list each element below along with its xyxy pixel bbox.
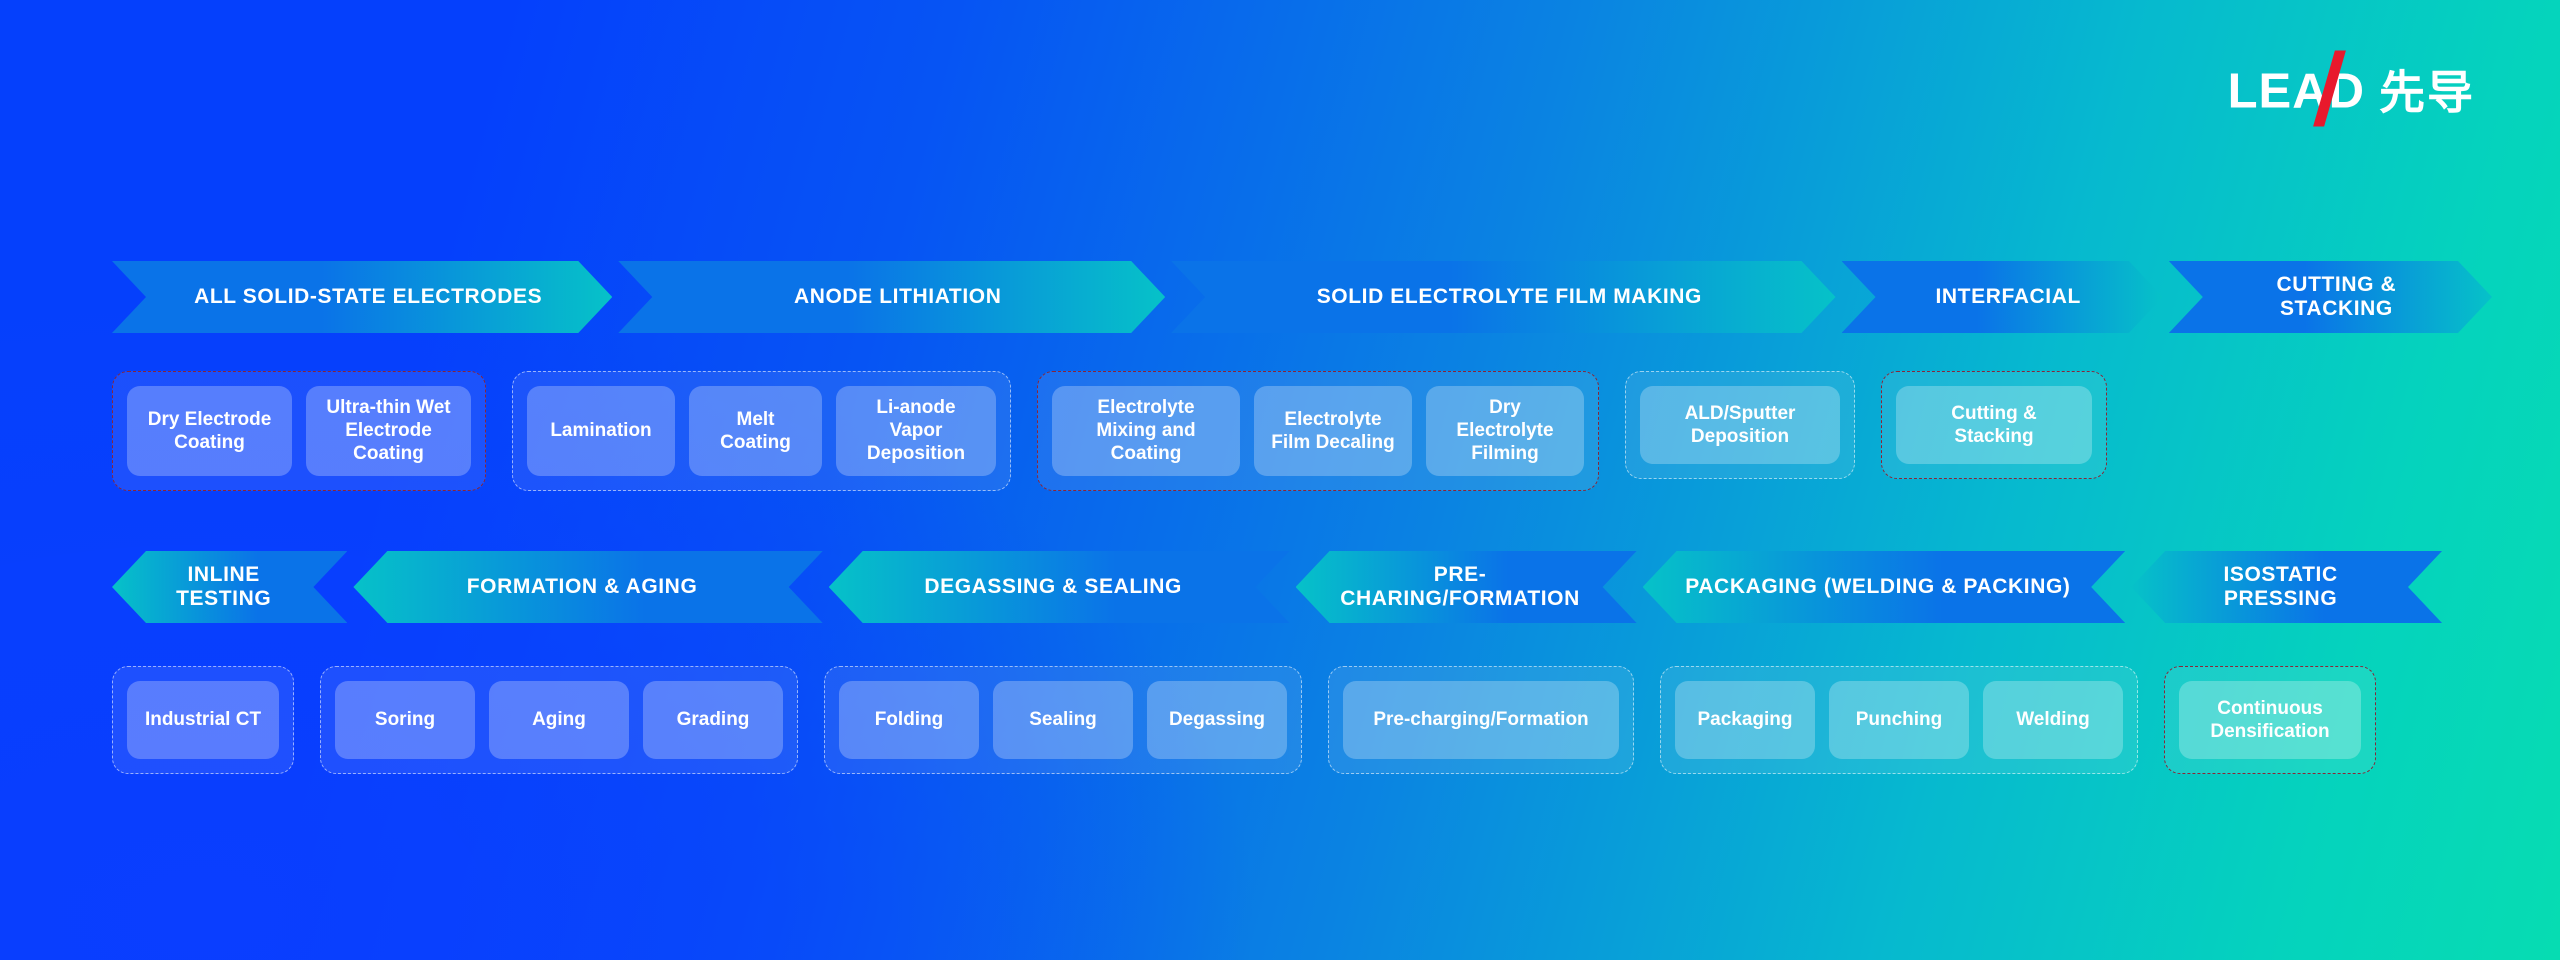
process-card-punching[interactable]: Punching [1829, 681, 1969, 759]
logo-wordmark: LEAD [2228, 68, 2365, 117]
process-card-dry-electrode-coating[interactable]: Dry Electrode Coating [127, 386, 292, 476]
stage-banner-isostatic-pressing[interactable]: ISOSTATIC PRESSING [2131, 551, 2442, 623]
stage-banner-formation-aging[interactable]: FORMATION & AGING [353, 551, 822, 623]
stage-banner-label: ALL SOLID-STATE ELECTRODES [194, 285, 542, 309]
card-group-cutting-stacking: Cutting & Stacking [1881, 371, 2107, 479]
card-group-isostatic-pressing: Continuous Densification [2164, 666, 2376, 774]
logo-mark: LEAD [2228, 68, 2365, 117]
process-card-lamination[interactable]: Lamination [527, 386, 675, 476]
stage-banner-degassing-sealing[interactable]: DEGASSING & SEALING [829, 551, 1290, 623]
card-group-all-solid-state-electrodes: Dry Electrode CoatingUltra-thin Wet Elec… [112, 371, 486, 491]
process-card-li-anode-vapor-deposition[interactable]: Li-anode Vapor Deposition [836, 386, 996, 476]
process-card-welding[interactable]: Welding [1983, 681, 2123, 759]
stage-banner-pre-charing-formation[interactable]: PRE-CHARING/FORMATION [1296, 551, 1637, 623]
card-group-formation-aging: SoringAgingGrading [320, 666, 798, 774]
process-card-aging[interactable]: Aging [489, 681, 629, 759]
stage-card-row-2: Industrial CTSoringAgingGradingFoldingSe… [0, 666, 2560, 774]
stage-banner-cutting-stacking[interactable]: CUTTING & STACKING [2169, 261, 2492, 333]
process-card-degassing[interactable]: Degassing [1147, 681, 1287, 759]
process-card-melt-coating[interactable]: Melt Coating [689, 386, 822, 476]
card-group-degassing-sealing: FoldingSealingDegassing [824, 666, 1302, 774]
process-card-electrolyte-mixing-and-coating[interactable]: Electrolyte Mixing and Coating [1052, 386, 1240, 476]
process-card-dry-electrolyte-filming[interactable]: Dry Electrolyte Filming [1426, 386, 1584, 476]
stage-banner-label: DEGASSING & SEALING [924, 575, 1182, 599]
card-group-pre-charing-formation: Pre-charging/Formation [1328, 666, 1634, 774]
stage-banner-label: FORMATION & AGING [467, 575, 698, 599]
stage-banner-anode-lithiation[interactable]: ANODE LITHIATION [618, 261, 1165, 333]
process-card-sealing[interactable]: Sealing [993, 681, 1133, 759]
process-flow-diagram: LEAD 先导 ALL SOLID-STATE ELECTRODESANODE … [0, 0, 2560, 960]
stage-banner-row-1: ALL SOLID-STATE ELECTRODESANODE LITHIATI… [0, 261, 2560, 333]
process-card-electrolyte-film-decaling[interactable]: Electrolyte Film Decaling [1254, 386, 1412, 476]
stage-card-row-1: Dry Electrode CoatingUltra-thin Wet Elec… [0, 371, 2560, 491]
stage-banner-label: ISOSTATIC PRESSING [2223, 563, 2337, 610]
stage-banner-label: PACKAGING (WELDING & PACKING) [1685, 575, 2070, 599]
process-card-industrial-ct[interactable]: Industrial CT [127, 681, 279, 759]
card-group-inline-testing: Industrial CT [112, 666, 294, 774]
card-group-packaging-welding-packing: PackagingPunchingWelding [1660, 666, 2138, 774]
stage-banner-inline-testing[interactable]: INLINE TESTING [112, 551, 347, 623]
process-card-pre-charging-formation[interactable]: Pre-charging/Formation [1343, 681, 1619, 759]
process-card-cutting-stacking[interactable]: Cutting & Stacking [1896, 386, 2092, 464]
stage-banner-label: INTERFACIAL [1935, 285, 2080, 309]
process-card-ultra-thin-wet-electrode-coating[interactable]: Ultra-thin Wet Electrode Coating [306, 386, 471, 476]
lead-logo: LEAD 先导 [2228, 68, 2475, 117]
process-card-soring[interactable]: Soring [335, 681, 475, 759]
stage-banner-label: INLINE TESTING [152, 563, 295, 610]
stage-banner-row-2: INLINE TESTINGFORMATION & AGINGDEGASSING… [0, 551, 2560, 623]
process-card-folding[interactable]: Folding [839, 681, 979, 759]
stage-banner-packaging-welding-packing[interactable]: PACKAGING (WELDING & PACKING) [1643, 551, 2126, 623]
card-group-solid-electrolyte-film-making: Electrolyte Mixing and CoatingElectrolyt… [1037, 371, 1599, 491]
stage-banner-label: SOLID ELECTROLYTE FILM MAKING [1317, 285, 1702, 309]
process-card-continuous-densification[interactable]: Continuous Densification [2179, 681, 2361, 759]
process-card-grading[interactable]: Grading [643, 681, 783, 759]
card-group-interfacial: ALD/Sputter Deposition [1625, 371, 1855, 479]
process-card-packaging[interactable]: Packaging [1675, 681, 1815, 759]
stage-banner-solid-electrolyte-film-making[interactable]: SOLID ELECTROLYTE FILM MAKING [1171, 261, 1835, 333]
stage-banner-interfacial[interactable]: INTERFACIAL [1842, 261, 2163, 333]
logo-chinese-name: 先导 [2379, 69, 2475, 115]
stage-banner-label: CUTTING & STACKING [2221, 273, 2452, 320]
stage-banner-all-solid-state-electrodes[interactable]: ALL SOLID-STATE ELECTRODES [112, 261, 612, 333]
process-card-ald-sputter-deposition[interactable]: ALD/Sputter Deposition [1640, 386, 1840, 464]
stage-banner-label: PRE-CHARING/FORMATION [1336, 563, 1585, 610]
stage-banner-label: ANODE LITHIATION [794, 285, 1002, 309]
card-group-anode-lithiation: LaminationMelt CoatingLi-anode Vapor Dep… [512, 371, 1011, 491]
